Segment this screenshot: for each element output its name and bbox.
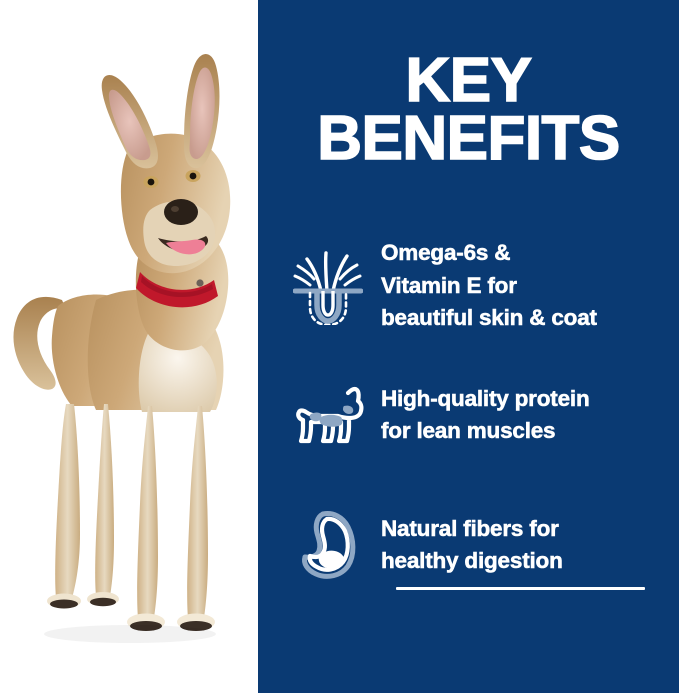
benefit-line: for lean muscles [381,415,590,448]
benefit-line: Vitamin E for [381,270,597,303]
benefit-line: High-quality protein [381,383,590,416]
hair-follicle-icon [291,244,365,328]
collar-ring [196,279,203,286]
benefit-item-digestion: Natural fibers for healthy digestion [258,480,679,610]
title-line-1: KEY [258,52,679,110]
benefit-text-protein: High-quality protein for lean muscles [381,383,590,448]
key-benefits-panel: KEY BENEFITS [0,0,679,693]
product-photo-pane [0,0,258,693]
stomach-digestion-icon [291,503,365,587]
dog-photo [0,0,258,693]
dog-muscle-icon [291,373,365,457]
benefit-line: Natural fibers for [381,513,563,546]
benefit-item-protein: High-quality protein for lean muscles [258,350,679,480]
benefit-line: healthy digestion [381,545,563,578]
page-title: KEY BENEFITS [258,52,679,167]
benefit-line: Omega-6s & [381,237,597,270]
title-line-2: BENEFITS [258,110,679,168]
benefits-list: Omega-6s & Vitamin E for beautiful skin … [258,222,679,610]
benefit-text-digestion: Natural fibers for healthy digestion [381,513,563,578]
benefit-item-skin-coat: Omega-6s & Vitamin E for beautiful skin … [258,222,679,350]
dog-nose [164,199,198,225]
benefit-text-skin-coat: Omega-6s & Vitamin E for beautiful skin … [381,237,597,335]
benefits-panel: KEY BENEFITS [258,0,679,693]
benefit-line: beautiful skin & coat [381,302,597,335]
